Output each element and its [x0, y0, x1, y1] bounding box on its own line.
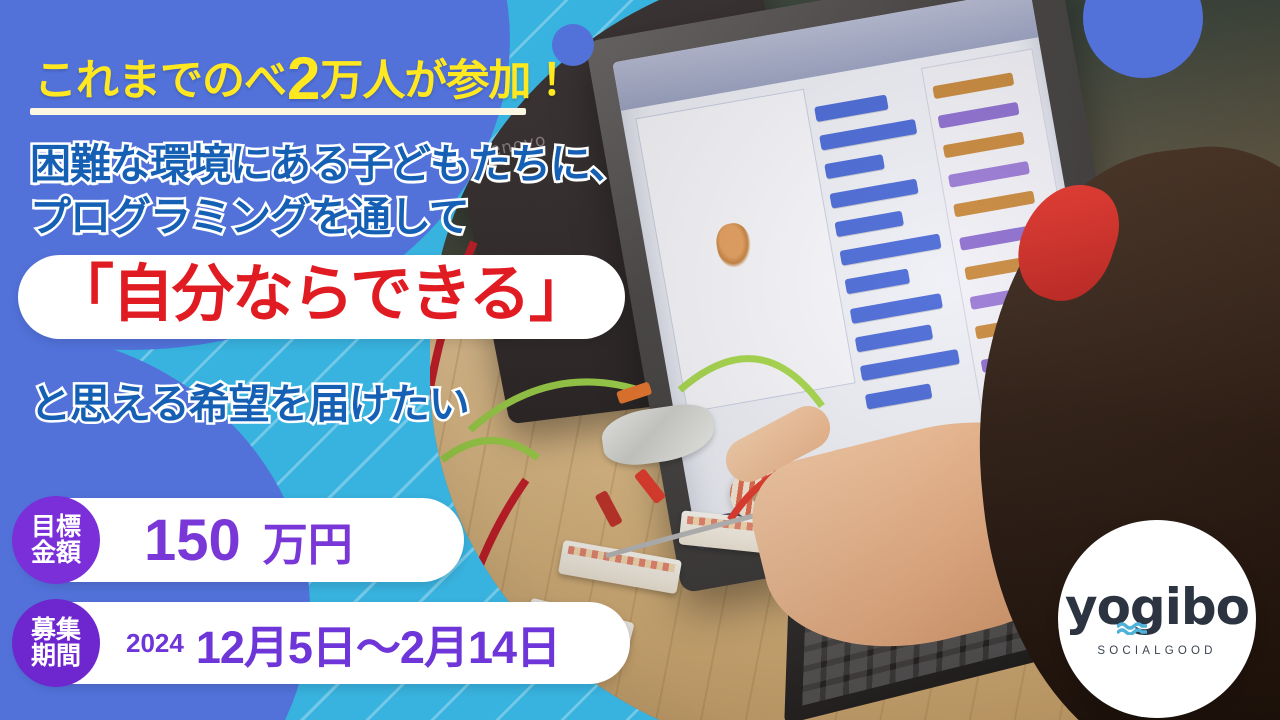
- yogibo-squiggle-icon: [1117, 622, 1147, 635]
- kicker-number: 2: [287, 45, 319, 112]
- kicker-prefix: これまでのべ: [34, 57, 286, 105]
- yogibo-wordmark: yogibo: [1065, 582, 1249, 632]
- goal-chip: 目標 金額: [12, 496, 100, 584]
- goal-amount-unit: 万円: [263, 508, 353, 573]
- period-chip: 募集 期間: [12, 599, 100, 687]
- yogibo-tagline: SOCIALGOOD: [1097, 645, 1216, 657]
- kicker-underline: [30, 108, 526, 115]
- kicker-suffix: 万人が参加！: [320, 57, 572, 105]
- lead-headline: 困難な環境にある子どもたちに、 プログラミングを通して: [30, 138, 629, 245]
- kicker-headline: これまでのべ2万人が参加！: [34, 46, 572, 109]
- period-date-range: 12月5日〜2月14日: [196, 611, 560, 676]
- period-chip-line-1: 募集: [31, 617, 81, 644]
- campaign-banner: lenovo: [0, 0, 1280, 720]
- goal-amount-value: 150: [144, 507, 241, 574]
- period-year: 2024: [126, 628, 184, 659]
- period-chip-line-2: 期間: [31, 643, 81, 670]
- goal-chip-line-2: 金額: [31, 540, 81, 567]
- lead-line-2: プログラミングを通して: [30, 191, 629, 244]
- lead-line-1: 困難な環境にある子どもたちに、: [30, 138, 629, 191]
- highlight-text: 「自分ならできる」: [52, 264, 589, 326]
- highlight-pill: 「自分ならできる」: [18, 255, 625, 339]
- campaign-period-badge: 募集 期間 2024 12月5日〜2月14日: [16, 602, 630, 684]
- goal-chip-line-1: 目標: [31, 514, 81, 541]
- tail-headline: と思える希望を届けたい: [30, 370, 469, 430]
- yogibo-logo: yogibo SOCIALGOOD: [1058, 520, 1256, 718]
- yogibo-word-text: yogibo: [1065, 578, 1249, 636]
- goal-amount-badge: 目標 金額 150 万円: [16, 498, 464, 582]
